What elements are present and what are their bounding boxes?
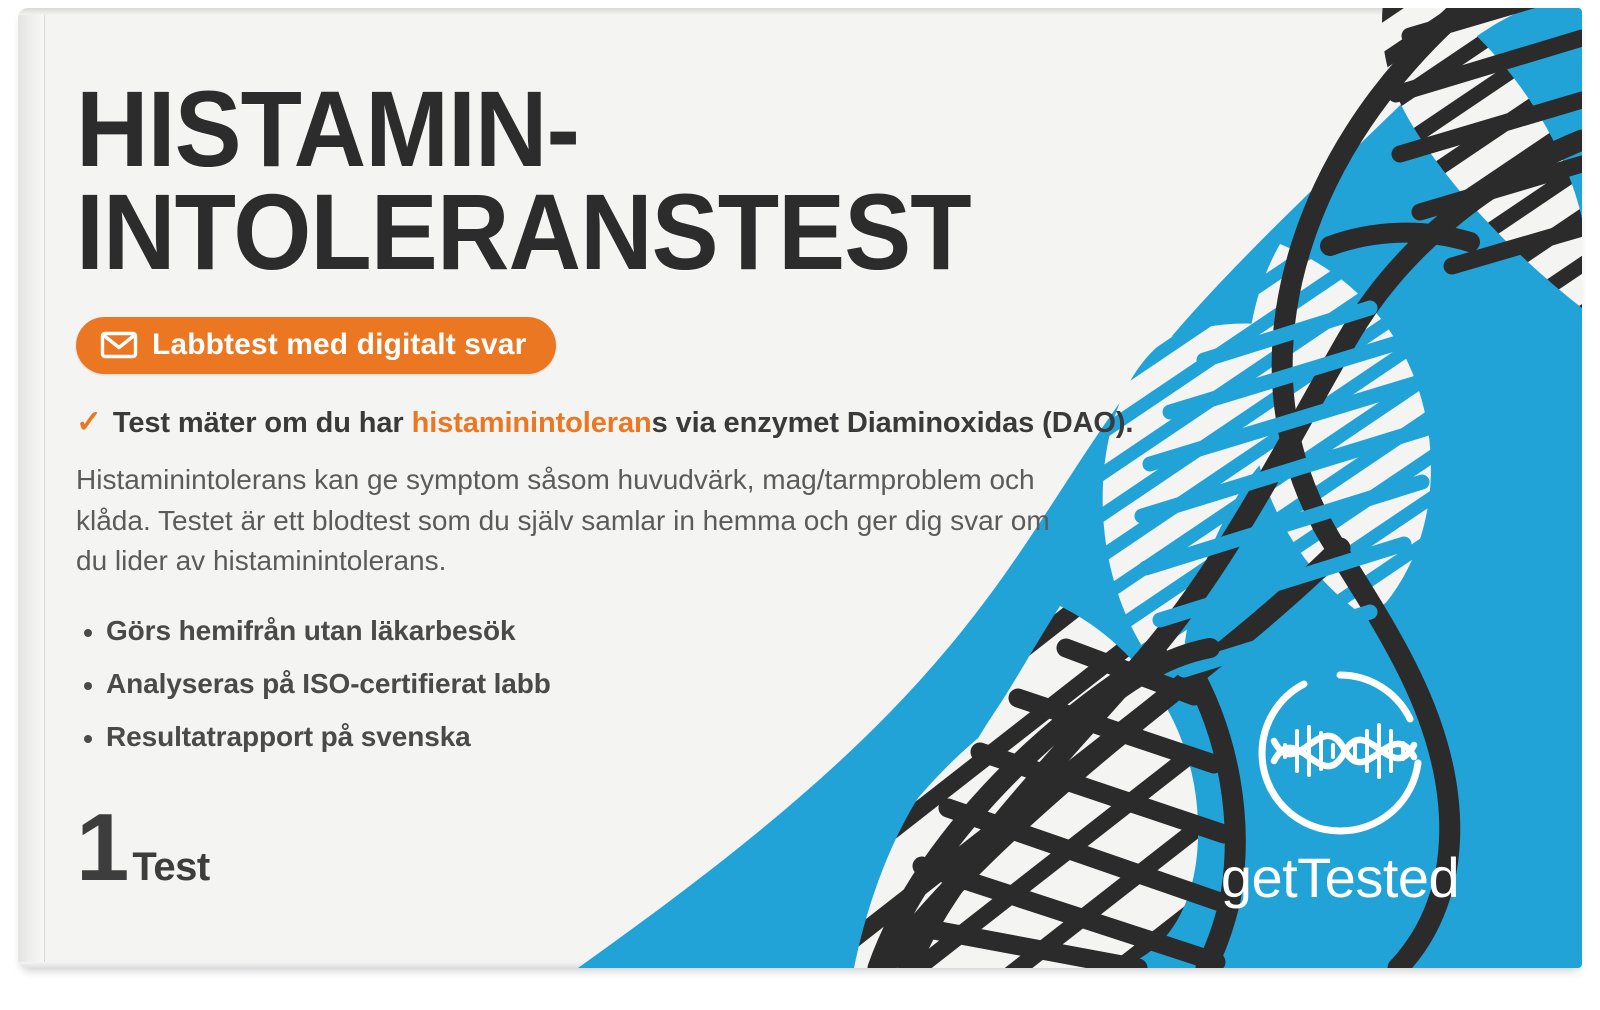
badge-label: Labbtest med digitalt svar [152, 328, 526, 362]
status-badge: Labbtest med digitalt svar [76, 317, 556, 374]
claim-prefix: Test mäter om du har [113, 407, 412, 439]
quantity-number: 1 [76, 810, 126, 887]
brand-logo: getTested [1190, 665, 1490, 906]
feature-list: Görs hemifrån utan läkarbesök Analyseras… [76, 615, 1196, 753]
brand-wordmark: getTested [1221, 850, 1459, 906]
product-description: Histaminintolerans kan ge symptom såsom … [76, 460, 1076, 581]
package-front-content: HISTAMIN- INTOLERANSTEST Labbtest med di… [76, 78, 1196, 774]
key-claim: ✓ Test mäter om du har histaminintoleran… [76, 406, 1196, 440]
dna-circle-icon [1252, 665, 1428, 846]
claim-suffix: s via enzymet Diaminoxidas (DAO). [652, 407, 1134, 439]
claim-highlight: histaminintoleran [412, 407, 652, 439]
list-item: Görs hemifrån utan läkarbesök [76, 615, 1196, 647]
check-mark-icon: ✓ [76, 406, 102, 437]
box-left-spine [18, 8, 45, 968]
claim-text: Test mäter om du har histaminintolerans … [113, 407, 1134, 440]
box-top-edge [18, 8, 1582, 15]
box-bottom-edge [18, 962, 1582, 968]
quantity-unit: Test [132, 845, 209, 890]
quantity-indicator: 1 Test [76, 810, 210, 890]
list-item: Analyseras på ISO-certifierat labb [76, 668, 1196, 700]
list-item: Resultatrapport på svenska [76, 721, 1196, 753]
envelope-icon [100, 331, 138, 359]
package-box: HISTAMIN- INTOLERANSTEST Labbtest med di… [18, 8, 1582, 968]
product-package-image: HISTAMIN- INTOLERANSTEST Labbtest med di… [0, 0, 1600, 1010]
page-title: HISTAMIN- INTOLERANSTEST [76, 78, 1118, 283]
